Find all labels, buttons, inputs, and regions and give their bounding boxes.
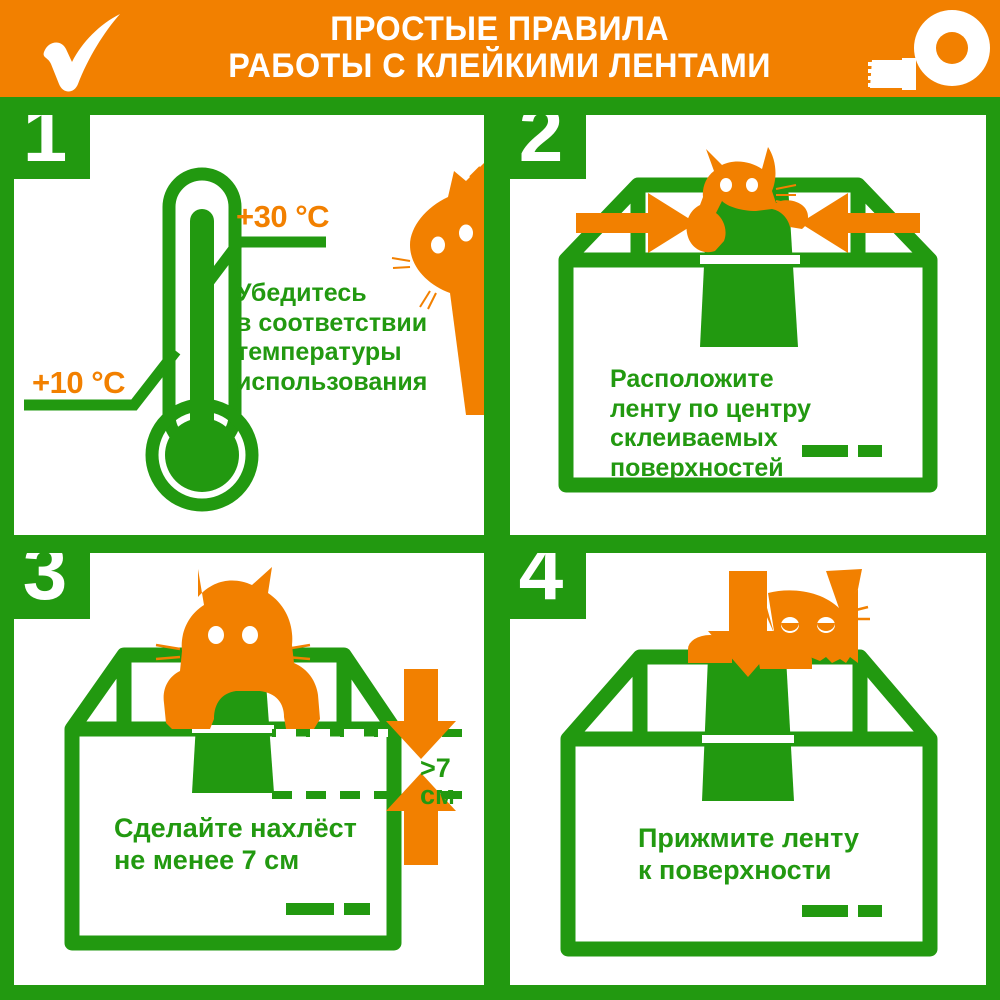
box-label-dashes xyxy=(286,903,370,915)
temp-high-label: +30 °C xyxy=(236,199,329,235)
poster-header: ПРОСТЫЕ ПРАВИЛА РАБОТЫ С КЛЕЙКИМИ ЛЕНТАМ… xyxy=(0,0,1000,97)
box-label-dashes xyxy=(802,445,882,457)
tape-roll-icon xyxy=(864,8,994,94)
tape-strip-icon xyxy=(702,657,794,801)
cat-beside-box-icon xyxy=(688,569,870,669)
check-mark-icon xyxy=(28,8,138,94)
step-number: 4 xyxy=(510,553,586,617)
step-number: 2 xyxy=(510,115,586,179)
temp-low-label: +10 °C xyxy=(32,365,125,401)
step-panel-2[interactable]: Расположите ленту по центру склеиваемых … xyxy=(510,115,986,535)
step-2-caption: Расположите ленту по центру склеиваемых … xyxy=(610,365,811,483)
page-title: ПРОСТЫЕ ПРАВИЛА РАБОТЫ С КЛЕЙКИМИ ЛЕНТАМ… xyxy=(229,11,772,87)
step-4-caption: Прижмите ленту к поверхности xyxy=(638,823,859,887)
infographic-poster: ПРОСТЫЕ ПРАВИЛА РАБОТЫ С КЛЕЙКИМИ ЛЕНТАМ… xyxy=(0,0,1000,1000)
step-number: 3 xyxy=(14,553,90,617)
overlap-measure-label: >7 см xyxy=(420,755,455,809)
step-1-caption: Убедитесь в соответствии температуры исп… xyxy=(236,279,427,397)
step-panel-4[interactable]: Прижмите ленту к поверхности 4 xyxy=(510,553,986,985)
step-3-caption: Сделайте нахлёст не менее 7 см xyxy=(114,813,357,877)
box-label-dashes xyxy=(802,905,882,917)
steps-grid: +30 °C +10 °C Убедитесь в соответствии т… xyxy=(0,97,1000,1000)
step-panel-1[interactable]: +30 °C +10 °C Убедитесь в соответствии т… xyxy=(14,115,484,535)
step-panel-3[interactable]: >7 см Сделайте нахлёст не менее 7 см 3 xyxy=(14,553,484,985)
step-number: 1 xyxy=(14,115,90,179)
